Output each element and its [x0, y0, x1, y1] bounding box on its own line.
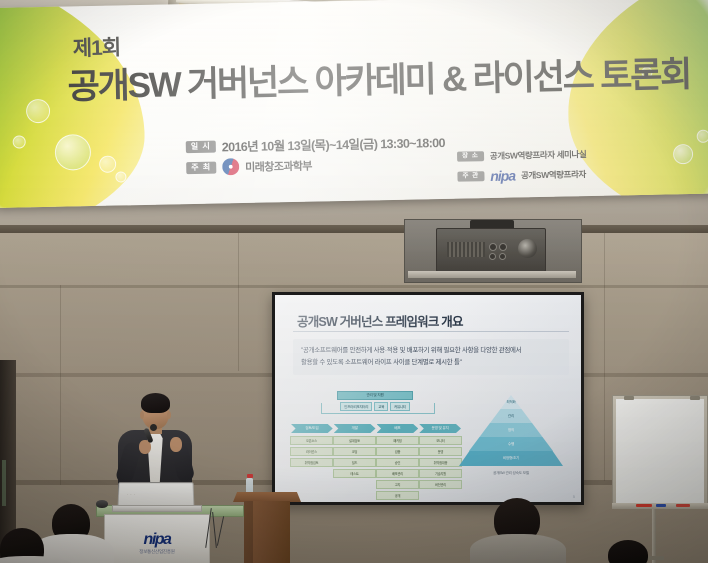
water-bottle-cap [247, 474, 253, 478]
microphone-head [150, 424, 157, 431]
banner-row-organizer: 주 관 nipa 공개SW역량프라자 [457, 166, 586, 185]
projector-vent [447, 242, 485, 257]
pyramid-tier: 최적화 [501, 395, 522, 409]
whiteboard-clip [624, 396, 634, 400]
whiteboard [612, 395, 708, 507]
slide-page-number: 5 [573, 494, 575, 499]
flow-cell: 공개 [376, 491, 419, 500]
slide-quote-line-2: 활용할 수 있도록 소프트웨어 라이프 사이클 단계별로 제시한 틀" [301, 357, 561, 369]
banner-date-value: 2016년 10월 13일(목)~14일(금) 13:30~18:00 [222, 132, 445, 155]
flow-column: 패키징 검증 승인 배포관리 고지 공개 [377, 436, 418, 500]
ceiling-projector [436, 228, 546, 272]
slide-title-rule [293, 331, 569, 332]
pyramid-tier: 관리 [490, 409, 532, 423]
banner-bubble [697, 130, 708, 143]
pyramid-tiers: 최적화 관리 정의 수행 비정형/초기 [459, 395, 563, 467]
banner-row-venue: 장 소 공개SW역량프라자 세미나실 [457, 148, 586, 163]
marker-red-2 [676, 504, 690, 507]
presenter-hair [141, 393, 170, 413]
flow-cell: 모니터 [419, 436, 462, 445]
whiteboard-surface [616, 399, 704, 503]
pyramid-caption: 공개SW 관리 성숙도 모델 [459, 471, 563, 476]
flow-cell: 취약점검토 [290, 458, 333, 467]
marker-red [636, 504, 652, 507]
lectern-shadow [244, 501, 253, 563]
flow-cell: 검증 [376, 447, 419, 456]
projector-recess-plate [408, 271, 576, 278]
slide-title: 공개SW 거버넌스 프레임워크 개요 [297, 311, 463, 330]
banner-swoosh-right [565, 0, 708, 208]
slide-quote-box: "공개소프트웨어를 안전하게 사용·적용 및 배포하기 위해 필요한 사항을 다… [293, 339, 569, 375]
projection-screen: 공개SW 거버넌스 프레임워크 개요 "공개소프트웨어를 안전하게 사용·적용 … [275, 295, 581, 502]
banner-organizer-value: 공개SW역량프라자 [521, 168, 586, 181]
audience-body [470, 534, 566, 563]
wall-upper-shadow [0, 225, 708, 233]
whiteboard-clip [690, 396, 700, 400]
projector-knob [499, 253, 506, 260]
flow-column: 설계검토 코딩 빌드 테스트 [334, 436, 375, 500]
flow-stage-row: 검토/도입 개발 배포 운영 및 유지 [291, 424, 461, 433]
nipa-logo: nipa [490, 168, 515, 184]
flow-connector [321, 403, 435, 414]
presenter-hand-right [170, 437, 182, 452]
slide-quote-line-1: "공개소프트웨어를 안전하게 사용·적용 및 배포하기 위해 필요한 사항을 다… [301, 345, 561, 357]
flow-cell: 승인 [376, 458, 419, 467]
flow-header: 관리 및 지원 [337, 391, 413, 400]
pyramid-tier: 정의 [480, 423, 543, 437]
slide-maturity-pyramid: 최적화 관리 정의 수행 비정형/초기 공개SW 관리 성숙도 모델 [459, 395, 563, 476]
flow-stage: 운영 및 유지 [419, 424, 461, 433]
projector-lens-icon [518, 239, 537, 258]
flow-cell: 배포관리 [376, 469, 419, 478]
banner-host-value: 미래창조과학부 [245, 157, 312, 174]
government-emblem-icon [222, 158, 239, 175]
flow-cell: 코딩 [333, 447, 376, 456]
podium-nipa-logo: nipa [105, 531, 209, 549]
laptop-brand-mark: · · · [127, 492, 135, 497]
pyramid-tier: 수행 [469, 437, 553, 451]
flow-columns: 오픈소스 라이선스 취약점검토 설계검토 코딩 빌드 테스트 패키징 검증 승인 [291, 436, 461, 500]
banner-row-date: 일 시 2016년 10월 13일(목)~14일(금) 13:30~18:00 [186, 132, 445, 156]
banner-tag-venue: 장 소 [457, 151, 484, 162]
banner-row-host: 주 최 미래창조과학부 [186, 157, 312, 177]
banner-tag-host: 주 최 [186, 161, 216, 174]
banner-tag-organizer: 주 관 [457, 171, 484, 182]
flow-cell: 라이선스 [290, 447, 333, 456]
flow-cell: 버전관리 [419, 480, 462, 489]
flow-stage: 검토/도입 [291, 424, 333, 433]
whiteboard-leg-foot [648, 556, 664, 560]
door-light-strip [2, 460, 6, 506]
flow-column: 오픈소스 라이선스 취약점검토 [291, 436, 332, 500]
whiteboard-leg [652, 509, 656, 563]
seminar-photo: 제1회 공개SW 거버넌스 아카데미 & 라이선스 토론회 일 시 2016년 … [0, 0, 708, 563]
flow-cell: 테스트 [333, 469, 376, 478]
podium-nipa-sub: 정보통신산업진흥원 [105, 549, 209, 555]
banner-tag-date: 일 시 [186, 140, 216, 153]
flow-stage: 개발 [334, 424, 376, 433]
presenter-ear [167, 411, 171, 419]
flow-stage: 배포 [377, 424, 419, 433]
flow-cell: 패키징 [376, 436, 419, 445]
projector-knob [489, 243, 497, 251]
projector-knob [499, 243, 507, 251]
marker-blue [656, 504, 666, 507]
flow-cell: 고지 [376, 480, 419, 489]
slide-flow-diagram: 관리 및 지원 인프라/리포지터리 교육 커뮤니티 검토/도입 개발 배포 운영… [291, 391, 461, 500]
flow-cell: 기술지원 [419, 469, 462, 478]
flow-cell: 운영 [419, 447, 462, 456]
podium: nipa 정보통신산업진흥원 [104, 514, 210, 563]
presenter-ear [140, 411, 144, 419]
flow-column: 모니터 운영 취약점대응 기술지원 버전관리 [420, 436, 461, 500]
banner-venue-value: 공개SW역량프라자 세미나실 [490, 148, 587, 162]
projector-knob [489, 253, 496, 260]
event-banner: 제1회 공개SW 거버넌스 아카데미 & 라이선스 토론회 일 시 2016년 … [0, 0, 708, 208]
flow-cell: 오픈소스 [290, 436, 333, 445]
audience-head [608, 540, 648, 563]
pyramid-tier: 비정형/초기 [459, 451, 563, 466]
projection-screen-frame: 공개SW 거버넌스 프레임워크 개요 "공개소프트웨어를 안전하게 사용·적용 … [272, 292, 584, 505]
laptop-base [112, 505, 202, 512]
computer-mouse [96, 500, 108, 508]
water-bottle [246, 478, 253, 494]
flow-cell: 취약점대응 [419, 458, 462, 467]
flow-cell: 빌드 [333, 458, 376, 467]
flow-cell: 설계검토 [333, 436, 376, 445]
